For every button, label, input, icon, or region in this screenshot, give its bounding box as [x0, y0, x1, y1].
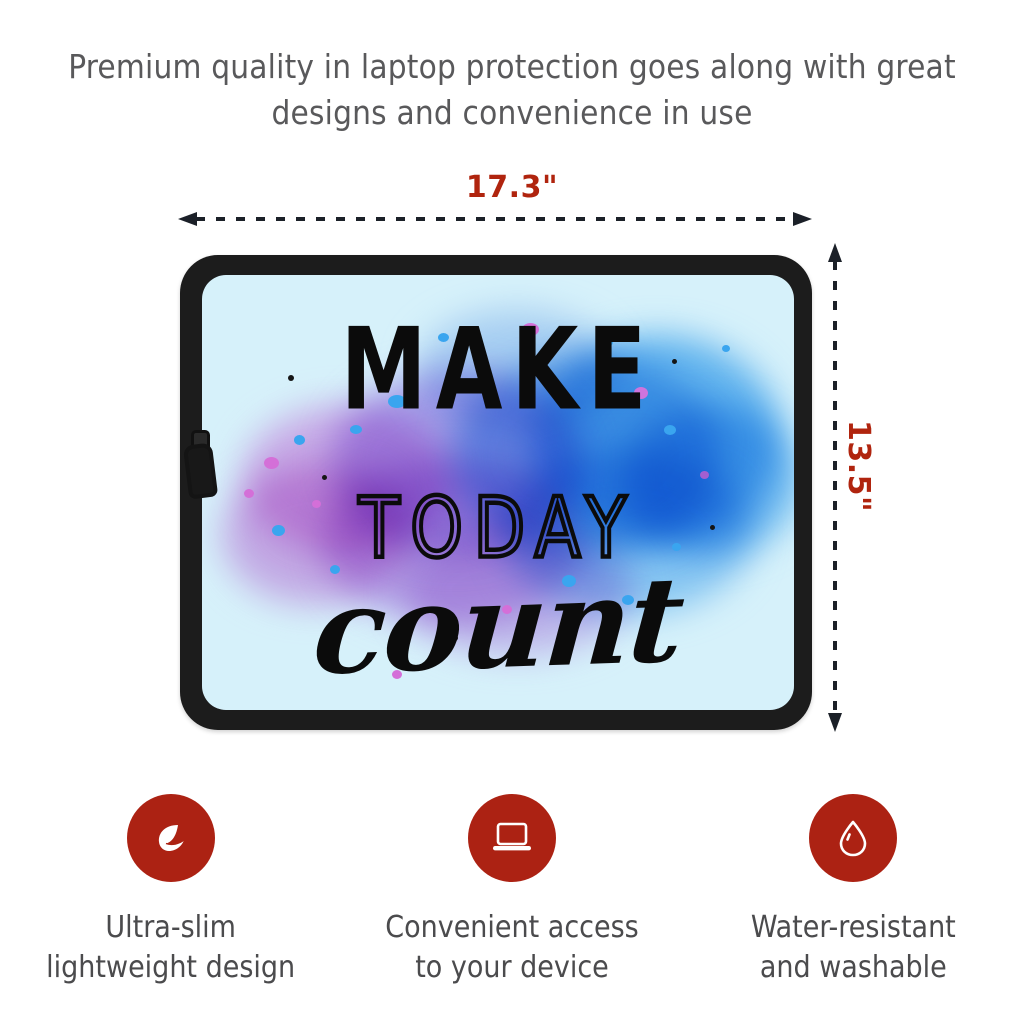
feature-label: Ultra-slim lightweight design	[46, 908, 295, 988]
arrow-down-icon	[828, 713, 842, 732]
water-drop-icon	[809, 794, 897, 882]
dashed-line	[196, 217, 794, 221]
zipper-pull-icon	[184, 430, 210, 492]
artwork-line-make: MAKE	[202, 313, 794, 426]
sleeve-artwork: MAKE TODAY count	[202, 275, 794, 710]
height-dimension-line	[828, 243, 842, 732]
width-dimension-line	[178, 212, 812, 226]
sleeve-front-face: MAKE TODAY count	[202, 275, 794, 710]
feature-item-ultra-slim: Ultra-slim lightweight design	[0, 794, 341, 988]
width-dimension-label: 17.3"	[0, 170, 1024, 205]
artwork-line-count: count	[202, 557, 794, 696]
feature-list: Ultra-slim lightweight design Convenient…	[0, 794, 1024, 988]
height-dimension-label: 13.5"	[841, 420, 876, 560]
arrow-up-icon	[828, 243, 842, 262]
feather-icon	[127, 794, 215, 882]
arrow-right-icon	[793, 212, 812, 226]
feature-item-water-resistant: Water-resistant and washable	[683, 794, 1024, 988]
laptop-icon	[468, 794, 556, 882]
feature-label: Convenient access to your device	[385, 908, 638, 988]
feature-label: Water-resistant and washable	[751, 908, 956, 988]
page-headline: Premium quality in laptop protection goe…	[0, 44, 1024, 136]
feature-item-convenient-access: Convenient access to your device	[341, 794, 682, 988]
arrow-left-icon	[178, 212, 197, 226]
dashed-line	[833, 261, 837, 714]
laptop-sleeve-product: MAKE TODAY count	[180, 255, 812, 730]
